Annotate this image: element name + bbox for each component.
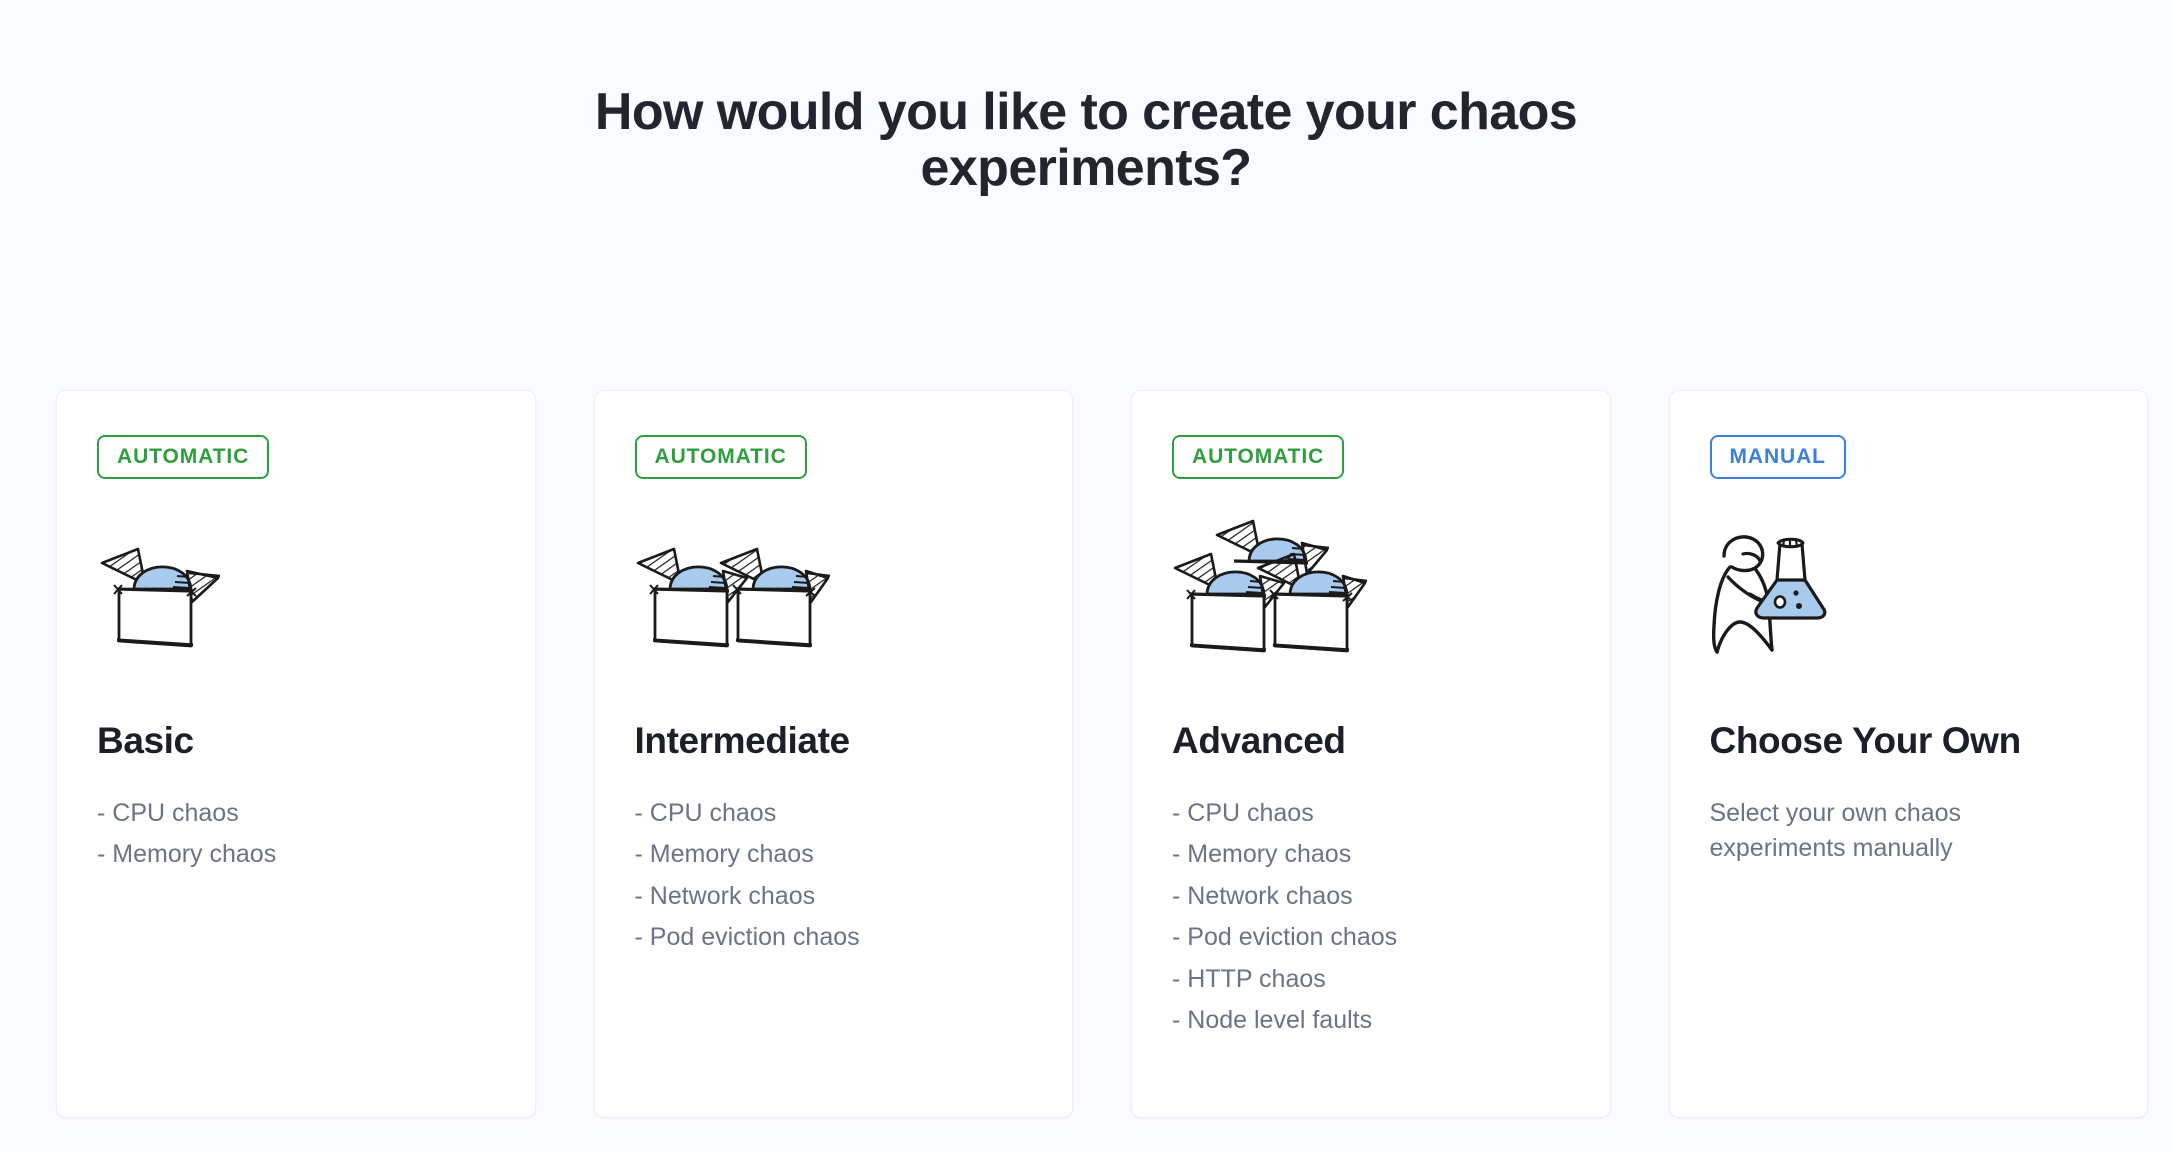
experiment-mode-card-advanced[interactable]: AUTOMATIC (1131, 390, 1611, 1118)
list-item: - Network chaos (635, 879, 1033, 914)
list-item: - HTTP chaos (1172, 962, 1570, 997)
page-heading-wrapper: How would you like to create your chaos … (0, 84, 2172, 196)
card-title-intermediate: Intermediate (635, 721, 1033, 762)
list-item: - Memory chaos (97, 837, 495, 872)
list-item: - Pod eviction chaos (1172, 920, 1570, 955)
list-item: - Memory chaos (635, 837, 1033, 872)
badge-automatic: AUTOMATIC (635, 435, 807, 479)
chaos-type-list-intermediate: - CPU chaos - Memory chaos - Network cha… (635, 796, 1033, 955)
list-item: - CPU chaos (1172, 796, 1570, 831)
experiment-mode-card-basic[interactable]: AUTOMATIC (56, 390, 536, 1118)
badge-automatic: AUTOMATIC (97, 435, 269, 479)
list-item: - Node level faults (1172, 1003, 1570, 1038)
page-title: How would you like to create your chaos … (586, 84, 1586, 196)
list-item: - CPU chaos (97, 796, 495, 831)
experiment-mode-card-row: AUTOMATIC (56, 390, 2148, 1118)
experiment-mode-selection-page: How would you like to create your chaos … (0, 0, 2172, 1152)
badge-manual: MANUAL (1710, 435, 1846, 479)
badge-automatic: AUTOMATIC (1172, 435, 1344, 479)
open-box-triple-icon (1172, 527, 1570, 659)
list-item: - Pod eviction chaos (635, 920, 1033, 955)
list-item: - Network chaos (1172, 879, 1570, 914)
scientist-flask-icon (1710, 527, 2108, 659)
chaos-type-list-advanced: - CPU chaos - Memory chaos - Network cha… (1172, 796, 1570, 1038)
list-item: - Memory chaos (1172, 837, 1570, 872)
card-title-choose-your-own: Choose Your Own (1710, 721, 2108, 762)
open-box-double-icon (635, 527, 1033, 659)
open-box-single-icon (97, 527, 495, 659)
experiment-mode-card-intermediate[interactable]: AUTOMATIC (594, 390, 1074, 1118)
list-item: - CPU chaos (635, 796, 1033, 831)
card-title-advanced: Advanced (1172, 721, 1570, 762)
card-description: Select your own chaos experiments manual… (1710, 796, 2010, 867)
experiment-mode-card-choose-your-own[interactable]: MANUAL (1669, 390, 2149, 1118)
card-title-basic: Basic (97, 721, 495, 762)
chaos-type-list-basic: - CPU chaos - Memory chaos (97, 796, 495, 872)
